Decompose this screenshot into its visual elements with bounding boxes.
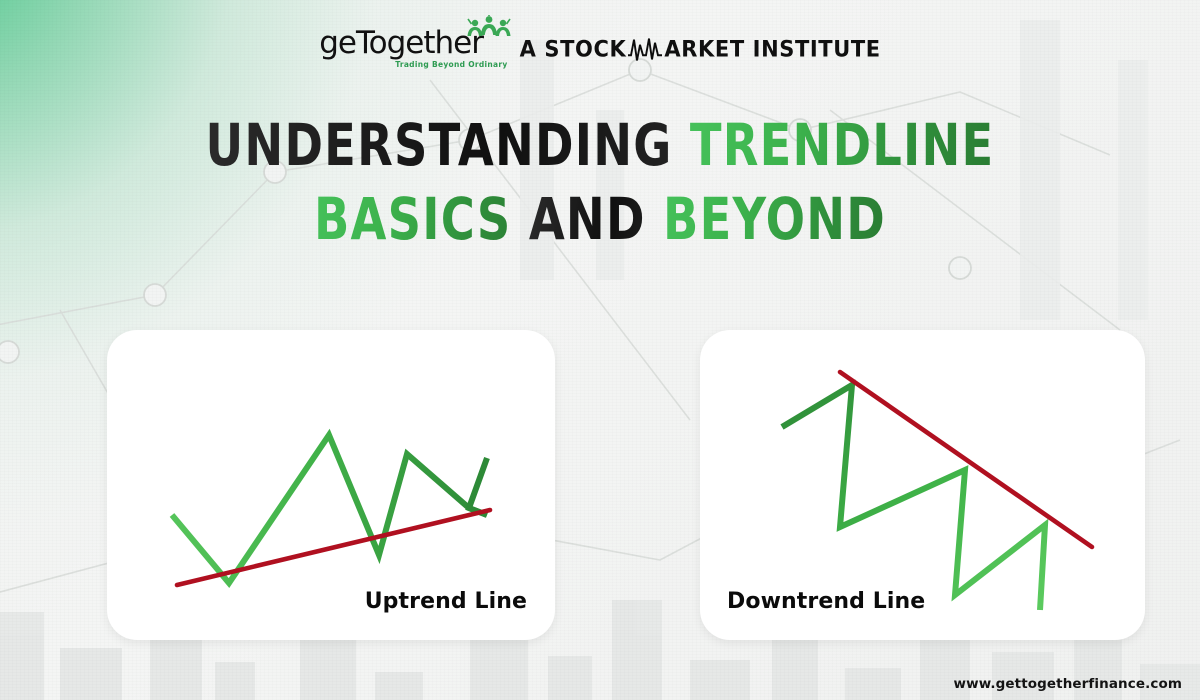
title-line2-dark: AND bbox=[529, 185, 663, 253]
price-zigzag-line bbox=[782, 385, 1045, 610]
getogether-logo[interactable]: geTogether Trading Beyond Ordinary bbox=[319, 28, 507, 69]
brand-header: geTogether Trading Beyond Ordinary A STO… bbox=[0, 28, 1200, 69]
downtrend-card-label: Downtrend Line bbox=[727, 589, 925, 614]
logo-wordmark: geTogether bbox=[319, 28, 483, 59]
institute-text-before: A STOCK bbox=[520, 36, 627, 61]
title-line1-dark: UNDERSTANDING bbox=[206, 111, 690, 179]
page-title: UNDERSTANDING TRENDLINE BASICS AND BEYON… bbox=[0, 108, 1200, 256]
downtrend-card[interactable]: Downtrend Line bbox=[700, 330, 1145, 640]
title-line1-green: TRENDLINE bbox=[690, 111, 995, 179]
poster-stage: geTogether Trading Beyond Ordinary A STO… bbox=[0, 0, 1200, 700]
title-line2-green-a: BASICS bbox=[314, 185, 529, 253]
logo-word-part1: ge bbox=[319, 25, 356, 61]
price-zigzag-line bbox=[172, 435, 487, 583]
institute-text-after: ARKET INSTITUTE bbox=[664, 36, 880, 61]
logo-tagline: Trading Beyond Ordinary bbox=[395, 60, 507, 69]
title-line-2: BASICS AND BEYOND bbox=[120, 182, 1080, 256]
website-url[interactable]: www.gettogetherfinance.com bbox=[954, 676, 1182, 692]
institute-tagline: A STOCK ARKET INSTITUTE bbox=[520, 35, 881, 62]
uptrend-red-line bbox=[177, 510, 490, 585]
uptrend-card-label: Uptrend Line bbox=[365, 589, 527, 614]
ekg-heartbeat-m-icon bbox=[627, 35, 663, 62]
support-trendline bbox=[469, 458, 487, 515]
title-line2-green-b: BEYOND bbox=[663, 185, 886, 253]
title-line-1: UNDERSTANDING TRENDLINE bbox=[120, 108, 1080, 182]
downtrend-red-line bbox=[840, 372, 1092, 547]
uptrend-card[interactable]: Uptrend Line bbox=[107, 330, 555, 640]
three-people-icon bbox=[466, 15, 512, 37]
logo-word-part2: T bbox=[356, 25, 369, 61]
